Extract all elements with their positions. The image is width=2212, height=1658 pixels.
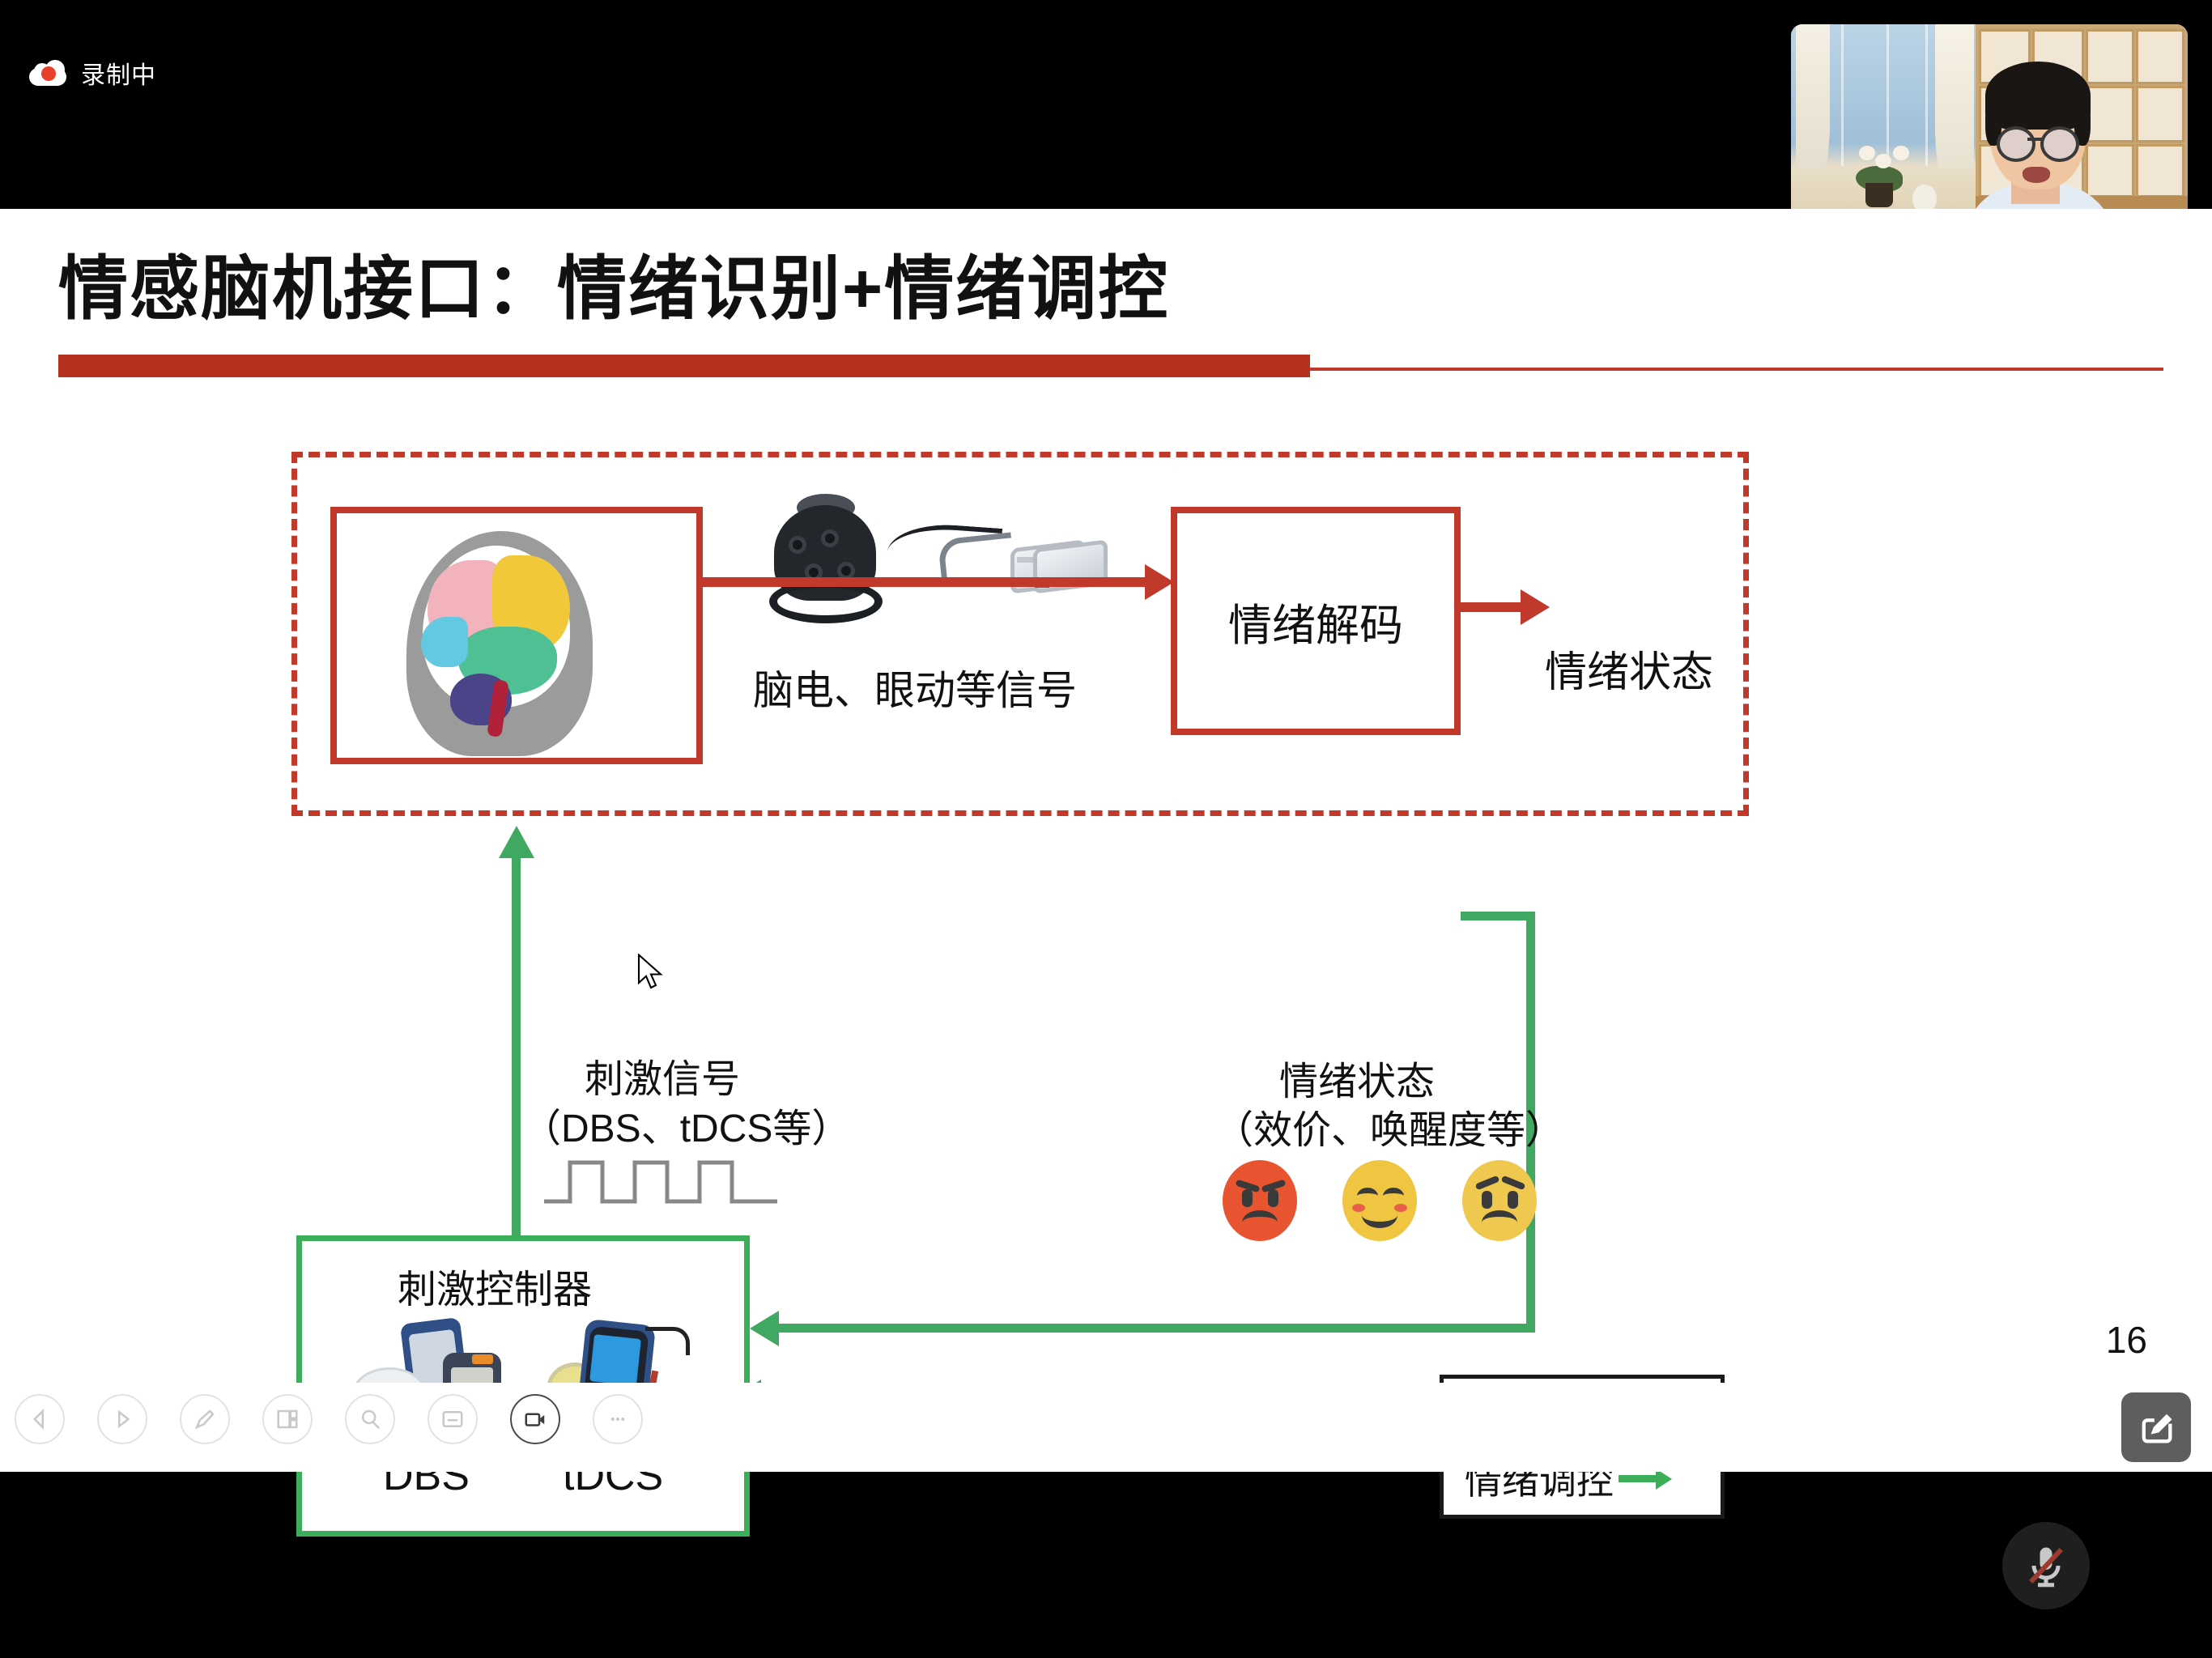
person-mouth (2023, 167, 2050, 183)
video-camera-icon (523, 1407, 547, 1431)
zoom-button[interactable] (345, 1394, 395, 1444)
more-button[interactable] (593, 1394, 643, 1444)
mic-mute-button[interactable] (2002, 1522, 2090, 1609)
flower (1859, 146, 1875, 160)
decoder-label: 情绪解码 (1228, 589, 1403, 653)
notes-button[interactable] (428, 1394, 478, 1444)
pen-icon (193, 1407, 217, 1431)
note-icon (440, 1407, 465, 1431)
decoder-output-arrow-head (1521, 589, 1550, 625)
mouse-cursor (636, 954, 666, 993)
feedback-line-top (1461, 912, 1535, 920)
magnifier-icon (358, 1407, 382, 1431)
flower (1875, 154, 1891, 168)
emotion-state-label-line2: （效价、唤醒度等） (1214, 1098, 1564, 1154)
stimulation-label-line1: 刺激信号 (585, 1047, 740, 1103)
brain-box (330, 507, 703, 764)
grid-icon (275, 1407, 300, 1431)
emoji-row (1223, 1160, 1537, 1241)
decoder-box: 情绪解码 (1171, 507, 1461, 735)
plant-pot (1865, 183, 1893, 207)
vase (1912, 185, 1937, 212)
eyeglass-left (1997, 126, 2035, 162)
camera-button[interactable] (510, 1394, 560, 1444)
stimulation-line-vertical (512, 857, 521, 1235)
sad-face-icon (1462, 1160, 1537, 1241)
slide-canvas: 情感脑机接口：情绪识别+情绪调控 (0, 209, 2212, 1383)
feedback-arrow-head (750, 1311, 779, 1346)
stimulator-title: 刺激控制器 (398, 1257, 592, 1314)
stimulation-label-line2: （DBS、tDCS等） (522, 1096, 850, 1153)
play-icon (110, 1407, 134, 1431)
page-number: 16 (2106, 1318, 2147, 1362)
angry-face-icon (1223, 1160, 1297, 1241)
square-pulse-icon (544, 1154, 787, 1211)
top-bar: 录制中 (0, 0, 2212, 209)
page-title: 情感脑机接口：情绪识别+情绪调控 (58, 232, 1169, 333)
microphone-muted-icon (2022, 1541, 2070, 1590)
recording-label: 录制中 (81, 55, 156, 91)
signal-label: 脑电、眼动等信号 (753, 658, 1077, 716)
eyeglass-right (2040, 126, 2079, 162)
eyeglass-bridge (2027, 138, 2042, 141)
annotate-button[interactable] (2121, 1392, 2191, 1462)
ellipsis-icon (606, 1407, 630, 1431)
stimulation-arrow-head (499, 826, 534, 858)
screen-root: 录制中 (0, 0, 2212, 1658)
recording-indicator: 录制中 (29, 55, 156, 91)
happy-face-icon (1342, 1160, 1417, 1241)
play-button[interactable] (97, 1394, 147, 1444)
pen-button[interactable] (180, 1394, 230, 1444)
curtain-left (1796, 24, 1830, 186)
eeg-cap-icon (753, 494, 899, 631)
emotion-state-output-label: 情绪状态 (1545, 638, 1713, 699)
feedback-line-horizontal (777, 1324, 1535, 1333)
toolbar-buttons (15, 1394, 643, 1444)
previous-slide-button[interactable] (15, 1394, 65, 1444)
annotate-pencil-icon (2135, 1406, 2177, 1448)
signal-arrow-line (703, 577, 1153, 587)
decoder-output-line (1461, 602, 1529, 612)
brain-lobe-occipital (421, 617, 468, 667)
signal-arrow-head (1145, 564, 1174, 600)
cloud-record-icon (29, 60, 66, 86)
title-rule-thick (58, 355, 1310, 377)
bottom-toolbar (0, 1383, 2212, 1472)
flower (1893, 146, 1909, 160)
slides-overview-button[interactable] (262, 1394, 313, 1444)
chevron-left-icon (28, 1407, 52, 1431)
